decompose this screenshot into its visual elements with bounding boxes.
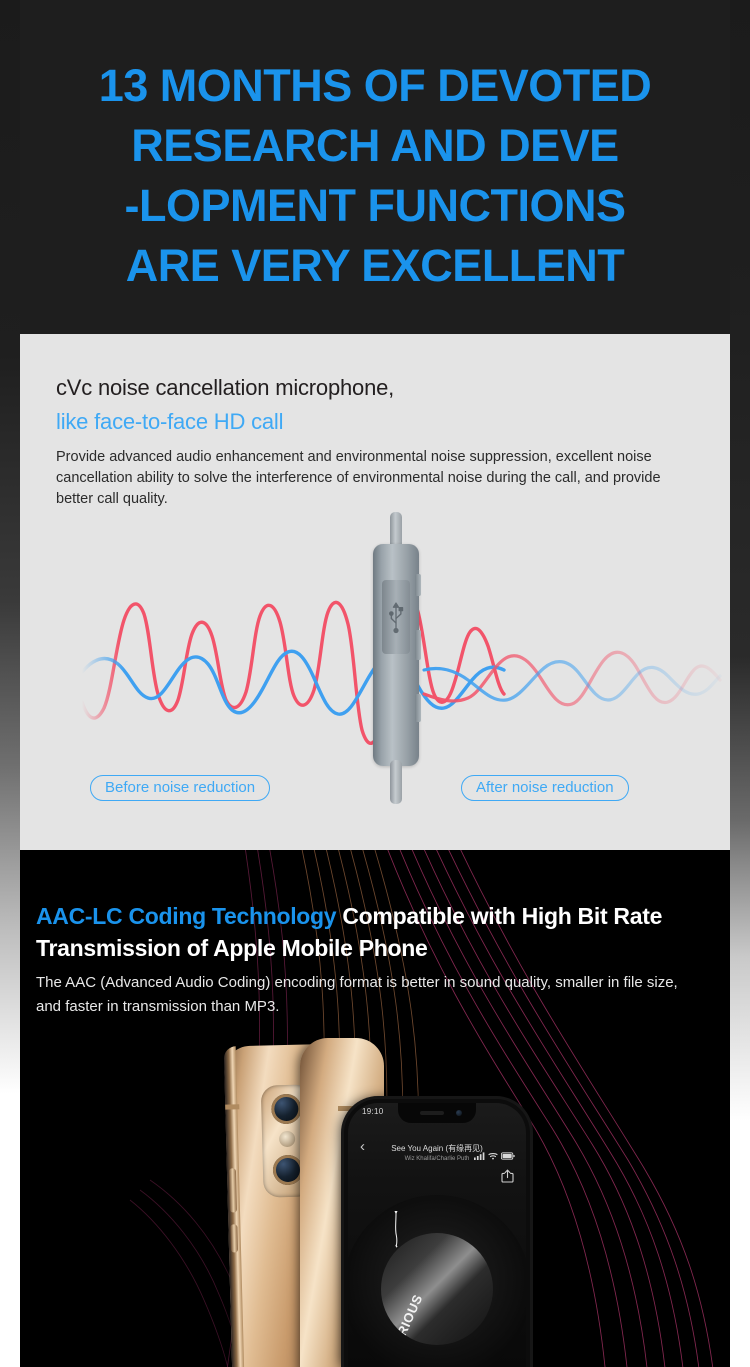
camera-lens-bottom	[273, 1155, 304, 1186]
earpiece-speaker	[420, 1111, 444, 1115]
product-detail-page: 13 MONTHS OF DEVOTED RESEARCH AND DEVE -…	[0, 0, 750, 1367]
cable-lower	[390, 760, 402, 804]
earbud-cable	[394, 1187, 398, 1271]
remote-button-volume-down[interactable]	[415, 694, 421, 722]
phone-antenna-band	[225, 1104, 239, 1109]
phone-volume-button[interactable]	[229, 1168, 237, 1212]
remote-button-play[interactable]	[415, 630, 421, 660]
page-title: 13 MONTHS OF DEVOTED RESEARCH AND DEVE -…	[0, 56, 750, 296]
phone-mute-switch[interactable]	[230, 1224, 238, 1252]
status-bar-time: 19:10	[362, 1107, 384, 1116]
usb-icon	[387, 596, 405, 638]
now-playing-title: See You Again (有缘再见)	[348, 1143, 526, 1154]
label-after-noise-reduction: After noise reduction	[461, 775, 629, 801]
inline-remote-control	[373, 512, 419, 802]
phone-screen: 19:10	[348, 1103, 526, 1367]
remote-body	[373, 544, 419, 766]
aac-body-text: The AAC (Advanced Audio Coding) encoding…	[36, 971, 686, 1019]
hero-line-4: ARE VERY EXCELLENT	[0, 236, 750, 296]
hero-line-1: 13 MONTHS OF DEVOTED	[0, 56, 750, 116]
card-body-text: Provide advanced audio enhancement and e…	[56, 447, 686, 510]
remote-button-volume-up[interactable]	[415, 574, 421, 596]
noise-cancellation-card: cVc noise cancellation microphone, like …	[20, 334, 730, 850]
label-before-noise-reduction: Before noise reduction	[90, 775, 270, 801]
front-camera-icon	[456, 1110, 462, 1116]
aac-heading-accent: AAC-LC Coding Technology	[36, 903, 336, 929]
card-heading-primary: cVc noise cancellation microphone,	[56, 375, 394, 401]
hero-line-3: -LOPMENT FUNCTIONS	[0, 176, 750, 236]
hero-line-2: RESEARCH AND DEVE	[0, 116, 750, 176]
hero-banner: 13 MONTHS OF DEVOTED RESEARCH AND DEVE -…	[0, 0, 750, 334]
phone-music-player: 19:10	[344, 1099, 530, 1367]
camera-lens-top	[271, 1094, 302, 1125]
now-playing-artist: Wiz Khalifa/Charlie Puth	[348, 1156, 526, 1162]
waveform-clean-before	[82, 651, 504, 714]
camera-flash	[279, 1131, 295, 1147]
album-brand-text: FURIOUS	[387, 1292, 426, 1345]
phone-notch	[398, 1103, 476, 1123]
share-icon[interactable]	[501, 1169, 514, 1185]
aac-heading: AAC-LC Coding Technology Compatible with…	[36, 900, 696, 964]
album-disc: FURIOUS	[348, 1195, 526, 1367]
card-heading-secondary: like face-to-face HD call	[56, 409, 283, 435]
